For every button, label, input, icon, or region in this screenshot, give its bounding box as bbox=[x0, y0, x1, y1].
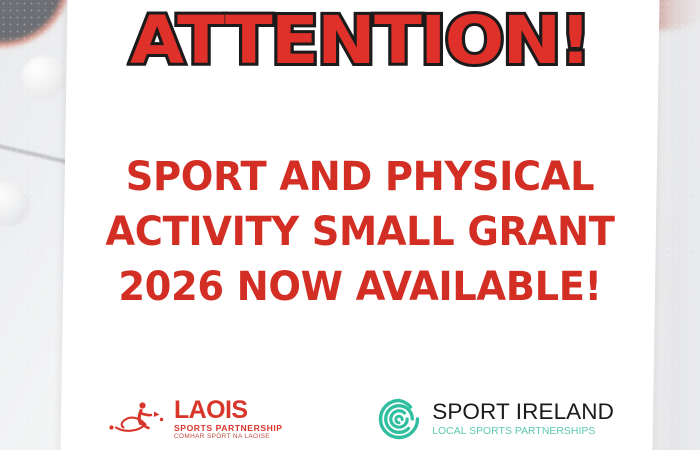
laois-running-figure-mark bbox=[108, 399, 168, 439]
sport-ireland-logo-text: SPORT IRELAND LOCAL SPORTS PARTNERSHIPS bbox=[432, 401, 614, 437]
logo-strip: LAOIS SPORTS PARTNERSHIP COMHAR SPÓRT NA… bbox=[64, 384, 656, 450]
sport-ireland-wordmark: SPORT IRELAND bbox=[432, 401, 614, 424]
sport-ireland-tagline: LOCAL SPORTS PARTNERSHIPS bbox=[432, 427, 595, 437]
laois-tagline-irish: COMHAR SPÓRT NA LAOISE bbox=[174, 434, 270, 440]
laois-tagline-english: SPORTS PARTNERSHIP bbox=[174, 424, 283, 433]
announcement-line-2: ACTIVITY SMALL GRANT bbox=[76, 205, 644, 260]
laois-wordmark: LAOIS bbox=[174, 398, 247, 423]
sport-ireland-spiral-mark bbox=[376, 396, 422, 442]
sport-ireland-logo: SPORT IRELAND LOCAL SPORTS PARTNERSHIPS bbox=[376, 396, 614, 442]
announcement-line-1: SPORT AND PHYSICAL bbox=[76, 150, 644, 205]
announcement-text-block: SPORT AND PHYSICAL ACTIVITY SMALL GRANT … bbox=[64, 150, 656, 315]
headline-container: ATTENTION! bbox=[64, 8, 656, 74]
announcement-line-3: 2026 NOW AVAILABLE! bbox=[76, 260, 644, 315]
laois-sports-partnership-logo: LAOIS SPORTS PARTNERSHIP COMHAR SPÓRT NA… bbox=[108, 398, 283, 441]
white-card: ATTENTION! SPORT AND PHYSICAL ACTIVITY S… bbox=[60, 0, 659, 450]
card-content: ATTENTION! SPORT AND PHYSICAL ACTIVITY S… bbox=[64, 0, 656, 450]
laois-logo-text: LAOIS SPORTS PARTNERSHIP COMHAR SPÓRT NA… bbox=[174, 398, 283, 441]
promotional-poster: ATTENTION! SPORT AND PHYSICAL ACTIVITY S… bbox=[0, 0, 700, 450]
page-title: ATTENTION! bbox=[130, 8, 590, 74]
